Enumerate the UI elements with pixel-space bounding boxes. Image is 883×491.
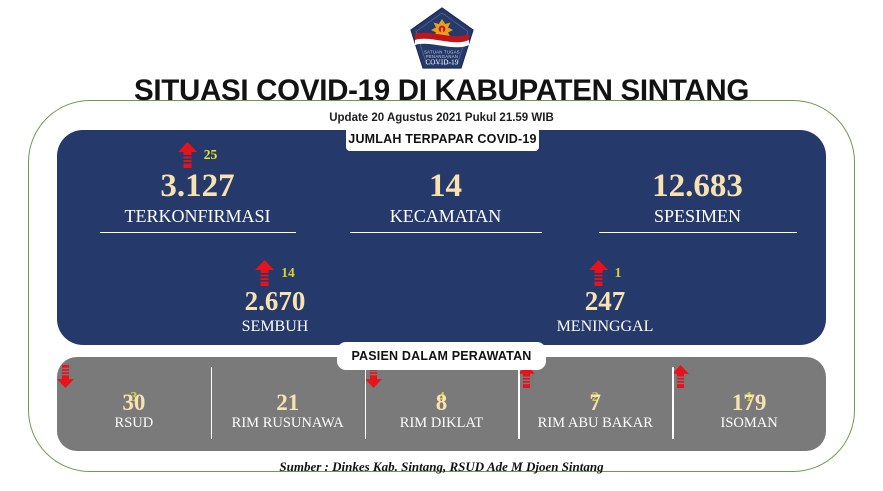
arrow-down-icon xyxy=(57,365,74,388)
delta-terkonfirmasi: 25 xyxy=(204,147,218,163)
stat-rim-rusunawa: 21 RIM RUSUNAWA xyxy=(211,357,365,451)
stat-kecamatan: 14 KECAMATAN xyxy=(338,140,553,233)
section-badge-perawatan: PASIEN DALAM PERAWATAN xyxy=(337,342,546,370)
stat-meninggal: 1 247 MENINGGAL xyxy=(490,258,720,336)
label-rim-abu-bakar: RIM ABU BAKAR xyxy=(518,416,672,432)
value-rim-diklat: 8 xyxy=(365,391,519,414)
arrow-up-icon xyxy=(589,260,608,286)
perawatan-cells: 3 30 RSUD 21 RIM RUSUNAWA 4 8 RIM DIKLAT xyxy=(57,357,826,451)
trend-row-kecamatan xyxy=(338,140,553,170)
arrow-up-icon xyxy=(255,260,274,286)
label-sembuh: SEMBUH xyxy=(160,318,390,336)
divider-spesimen xyxy=(599,232,797,234)
trend-row-spesimen xyxy=(580,140,815,170)
trend-row-rim-abu-bakar: 2 xyxy=(518,365,672,391)
trend-row-terkonfirmasi: 25 xyxy=(75,140,320,170)
value-terkonfirmasi: 3.127 xyxy=(75,170,320,203)
label-rim-rusunawa: RIM RUSUNAWA xyxy=(211,416,365,432)
logo-container: SATUAN TUGAS PENANGANAN COVID-19 xyxy=(0,6,883,74)
delta-sembuh: 14 xyxy=(281,265,295,281)
divider-kecamatan xyxy=(350,232,542,234)
delta-meninggal: 1 xyxy=(615,265,622,281)
label-meninggal: MENINGGAL xyxy=(490,318,720,336)
label-kecamatan: KECAMATAN xyxy=(338,207,553,227)
value-kecamatan: 14 xyxy=(338,170,553,203)
stat-rim-abu-bakar: 2 7 RIM ABU BAKAR xyxy=(518,357,672,451)
trend-row-rsud: 3 xyxy=(57,365,211,391)
value-rim-rusunawa: 21 xyxy=(211,391,365,414)
value-spesimen: 12.683 xyxy=(580,170,815,203)
stat-isoman: 1 179 ISOMAN xyxy=(672,357,826,451)
divider-terkonfirmasi xyxy=(100,232,296,234)
label-rim-diklat: RIM DIKLAT xyxy=(365,416,519,432)
value-isoman: 179 xyxy=(672,391,826,414)
logo-line3: COVID-19 xyxy=(425,59,458,67)
label-terkonfirmasi: TERKONFIRMASI xyxy=(75,207,320,227)
value-rsud: 30 xyxy=(57,391,211,414)
stat-sembuh: 14 2.670 SEMBUH xyxy=(160,258,390,336)
label-rsud: RSUD xyxy=(57,416,211,432)
stat-rim-diklat: 4 8 RIM DIKLAT xyxy=(365,357,519,451)
stat-rsud: 3 30 RSUD xyxy=(57,357,211,451)
value-rim-abu-bakar: 7 xyxy=(518,391,672,414)
value-sembuh: 2.670 xyxy=(160,288,390,315)
trend-row-isoman: 1 xyxy=(672,365,826,391)
label-spesimen: SPESIMEN xyxy=(580,207,815,227)
source-footer: Sumber : Dinkes Kab. Sintang, RSUD Ade M… xyxy=(0,459,883,475)
satgas-covid-logo: SATUAN TUGAS PENANGANAN COVID-19 xyxy=(409,6,475,72)
update-timestamp: Update 20 Agustus 2021 Pukul 21.59 WIB xyxy=(0,112,883,124)
stat-spesimen: 12.683 SPESIMEN xyxy=(580,140,815,233)
arrow-up-icon xyxy=(178,142,197,168)
page-title: SITUASI COVID-19 DI KABUPATEN SINTANG xyxy=(0,74,883,108)
value-meninggal: 247 xyxy=(490,288,720,315)
trend-row-meninggal: 1 xyxy=(490,258,720,288)
arrow-up-icon xyxy=(672,365,689,388)
stat-terkonfirmasi: 25 3.127 TERKONFIRMASI xyxy=(75,140,320,233)
label-isoman: ISOMAN xyxy=(672,416,826,432)
trend-row-sembuh: 14 xyxy=(160,258,390,288)
